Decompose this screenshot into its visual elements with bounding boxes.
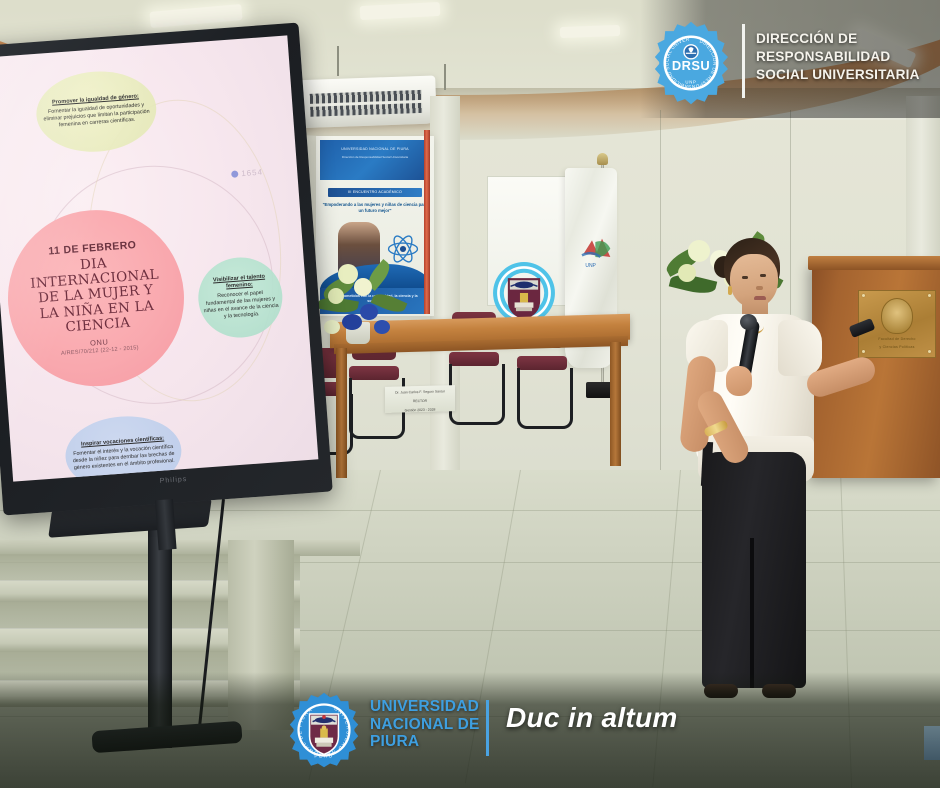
svg-text:UNP: UNP bbox=[685, 80, 696, 85]
table-nameplate: Dr. Juan Carlos F. Seguro Santur RECTOR … bbox=[385, 385, 455, 413]
svg-text:UNP: UNP bbox=[585, 263, 596, 269]
watermark-dot-icon bbox=[231, 170, 238, 177]
podium-plaque-line1: Facultad de Derecho bbox=[878, 337, 915, 342]
banner-title-strip: III ENCUENTRO ACADÉMICO bbox=[328, 188, 422, 197]
shoe bbox=[704, 684, 738, 698]
presentation-remote bbox=[849, 318, 876, 338]
microphone-head bbox=[740, 314, 757, 330]
drsu-logo: DIRECCION DE RESPONSABILIDAD SOCIAL UNIV… bbox=[648, 20, 734, 106]
tv-stand-neck bbox=[155, 499, 177, 550]
earring bbox=[728, 286, 732, 295]
banner-top-line1: UNIVERSIDAD NACIONAL DE PIURA bbox=[326, 147, 424, 151]
presenter bbox=[646, 238, 876, 708]
shoulder-right bbox=[778, 320, 822, 376]
trousers bbox=[702, 452, 806, 688]
shoe bbox=[762, 684, 796, 698]
unp-shield-logo: UNIVERSIDAD NACIONAL DE PIURA PERU bbox=[286, 692, 362, 768]
tv-screen: Promover la igualdad de género: Fomentar… bbox=[0, 35, 318, 481]
slide-title: DIA INTERNACIONAL DE LA MUJER Y LA NIÑA … bbox=[29, 252, 163, 337]
header-title-line2: RESPONSABILIDAD bbox=[756, 48, 932, 66]
university-line3: PIURA bbox=[370, 733, 490, 751]
banner-subtitle: "Empoderando a las mujeres y niñas de ci… bbox=[322, 202, 428, 213]
bubble-body: Reconocer el papel fundamental de las mu… bbox=[202, 289, 280, 322]
ceiling-rod bbox=[444, 64, 446, 90]
photo-slide-frame: UNIVERSIDAD NACIONAL DE PIURA Dirección … bbox=[0, 0, 940, 788]
corner-mark bbox=[924, 726, 940, 760]
motto-text: Duc in altum bbox=[506, 702, 678, 734]
banner-title-text: III ENCUENTRO ACADÉMICO bbox=[328, 188, 422, 197]
trouser-split bbox=[750, 538, 754, 688]
university-name: UNIVERSIDAD NACIONAL DE PIURA bbox=[370, 698, 490, 751]
slide-source: ONU bbox=[90, 337, 109, 347]
wall-column bbox=[430, 96, 460, 516]
header-title-line1: DIRECCIÓN DE bbox=[756, 30, 932, 48]
table-leg bbox=[336, 348, 347, 478]
step-side-wall bbox=[228, 540, 294, 730]
university-line2: NACIONAL DE bbox=[370, 716, 490, 734]
flag-finial bbox=[597, 153, 608, 165]
ceiling-light bbox=[560, 25, 620, 38]
banner-header: UNIVERSIDAD NACIONAL DE PIURA Dirección … bbox=[320, 140, 430, 180]
ceiling-rod bbox=[337, 46, 339, 76]
tv-stand-pole bbox=[148, 520, 172, 748]
banner-pole bbox=[424, 130, 430, 314]
flag-emblem: UNP bbox=[580, 232, 614, 272]
hand-holding-mic bbox=[726, 366, 752, 396]
watermark-text: 1654 bbox=[241, 168, 263, 179]
table-leg bbox=[610, 342, 621, 466]
header-divider bbox=[742, 24, 745, 98]
nameplate-line3: Gestión 2023 - 2028 bbox=[385, 403, 455, 414]
atom-icon bbox=[386, 232, 420, 266]
banner-top-line2: Dirección de Responsabilidad Social Univ… bbox=[330, 156, 420, 160]
flower-arrangement bbox=[316, 262, 412, 348]
university-line1: UNIVERSIDAD bbox=[370, 698, 490, 716]
header-title-line3: SOCIAL UNIVERSITARIA bbox=[756, 66, 932, 84]
podium-plaque-line2: y Ciencias Políticas bbox=[879, 345, 914, 350]
presentation-slide: Promover la igualdad de género: Fomentar… bbox=[0, 35, 318, 481]
air-conditioner bbox=[287, 75, 437, 128]
svg-text:DRSU: DRSU bbox=[672, 58, 710, 73]
header-title: DIRECCIÓN DE RESPONSABILIDAD SOCIAL UNIV… bbox=[756, 30, 932, 84]
footer-divider bbox=[486, 700, 489, 756]
presentation-tv: Promover la igualdad de género: Fomentar… bbox=[0, 23, 333, 516]
podium-seal-icon bbox=[881, 298, 913, 334]
nameplate-line1: Dr. Juan Carlos F. Seguro Santur bbox=[385, 385, 455, 396]
